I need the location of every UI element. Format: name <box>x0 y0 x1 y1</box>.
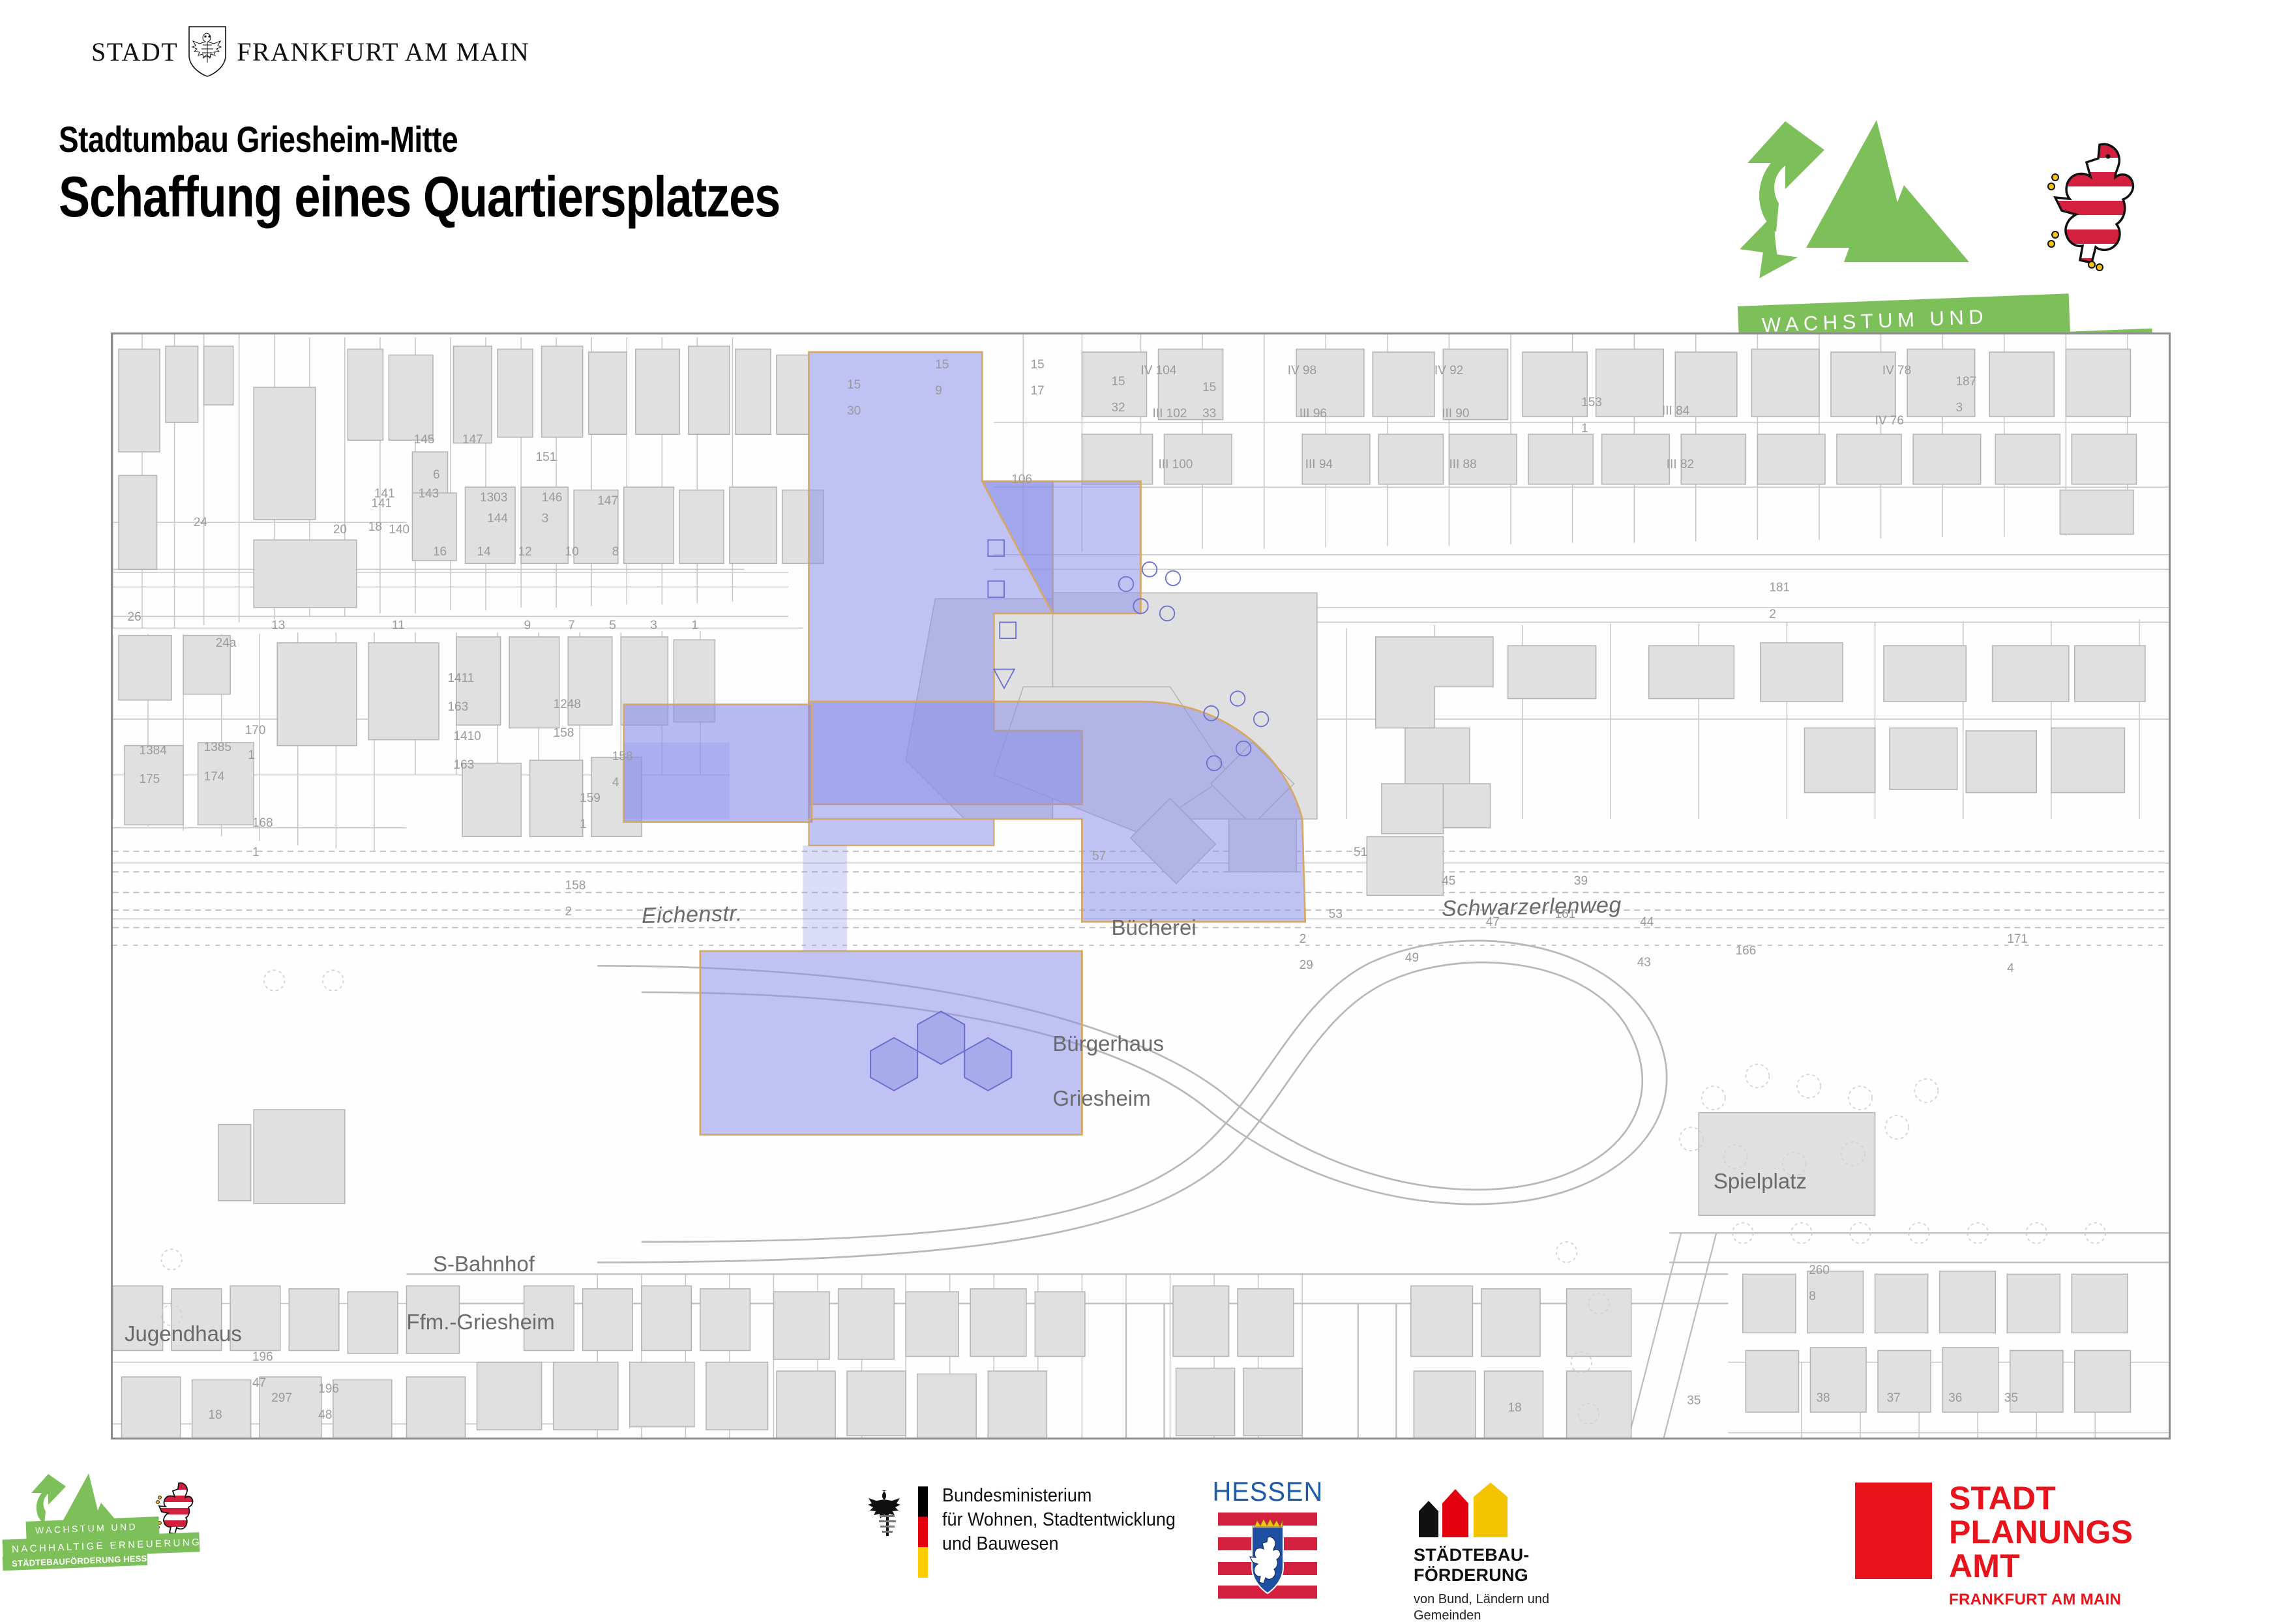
hessen-lion-icon <box>2021 137 2145 287</box>
parcel-label: 4 <box>612 776 619 790</box>
parcel-label: III 90 <box>1442 407 1469 421</box>
parcel-label: III 96 <box>1300 407 1327 421</box>
staedtebau-title-2: FÖRDERUNG <box>1414 1565 1530 1586</box>
parcel-label: 4 <box>2007 962 2014 976</box>
parcel-label: 48 <box>318 1408 332 1423</box>
parcel-label: 1384 <box>140 744 167 758</box>
spa-line-2: PLANUNGS <box>1949 1515 2133 1549</box>
place-label: Ffm.-Griesheim <box>406 1310 554 1335</box>
parcel-label: III 88 <box>1449 458 1476 472</box>
bmwsb-line-2: für Wohnen, Stadtentwicklung <box>942 1508 1176 1532</box>
place-label: Jugendhaus <box>125 1321 242 1346</box>
parcel-label: III 100 <box>1159 458 1193 472</box>
parcel-label: 146 <box>542 491 563 505</box>
hessen-wordmark: HESSEN <box>1212 1476 1323 1507</box>
parcel-label: 6 <box>433 468 440 482</box>
parcel-label: IV 92 <box>1434 364 1463 378</box>
parcel-label: 57 <box>1092 849 1106 864</box>
parcel-label: 16 <box>433 545 447 559</box>
parcel-label: 30 <box>847 404 861 419</box>
parcel-label: 181 <box>1769 581 1790 595</box>
tricolor-houses-icon <box>1418 1483 1522 1537</box>
spa-line-3: AMT <box>1949 1549 2133 1583</box>
parcel-label: 15 <box>847 378 861 392</box>
place-label: Bücherei <box>1111 915 1196 940</box>
title-group: Stadtumbau Griesheim-Mitte Schaffung ein… <box>59 121 938 227</box>
parcel-label: 168 <box>252 816 273 831</box>
staedtebau-sub-1: von Bund, Ländern und <box>1414 1591 1549 1608</box>
wachstum-erneuerung-logo-small: WACHSTUM UND NACHHALTIGE ERNEUERUNG STÄD… <box>0 1472 215 1583</box>
parcel-label: 20 <box>333 523 347 537</box>
city-logo-word-stadt: STADT <box>91 37 178 67</box>
parcel-label: 3 <box>650 619 657 633</box>
bmwsb-logo: Bundesministerium für Wohnen, Stadtentwi… <box>867 1484 1193 1578</box>
parcel-label: 24a <box>216 636 237 651</box>
parcel-label: 8 <box>1809 1290 1816 1304</box>
parcel-label: 39 <box>1574 874 1588 889</box>
parcel-label: 13 <box>271 619 285 633</box>
parcel-label: 153 <box>1581 396 1602 410</box>
parcel-label: 18 <box>1508 1401 1522 1415</box>
parcel-label: 1385 <box>204 741 231 755</box>
parcel-label: 9 <box>524 619 531 633</box>
parcel-label: 196 <box>252 1350 273 1365</box>
parcel-label: 163 <box>447 700 468 715</box>
parcel-label: 36 <box>1948 1391 1962 1406</box>
parcel-label: 43 <box>1637 956 1651 970</box>
parcel-label: 53 <box>1329 908 1343 922</box>
parcel-label: 2 <box>1769 608 1776 622</box>
parcel-label: 144 <box>487 512 508 526</box>
parcel-label: 38 <box>1816 1391 1830 1406</box>
parcel-label: 2 <box>1300 932 1307 947</box>
parcel-label: 11 <box>392 619 405 633</box>
parcel-label: 1 <box>580 818 587 832</box>
city-logo-word-frankfurt: FRANKFURT AM MAIN <box>237 37 529 67</box>
parcel-label: 47 <box>252 1376 266 1391</box>
staedtebau-sub-2: Gemeinden <box>1414 1608 1549 1624</box>
parcel-label: 159 <box>580 791 601 806</box>
parcel-label: 26 <box>128 610 141 625</box>
street-label: Eichenstr. <box>641 901 743 929</box>
parcel-label: 1411 <box>447 672 474 686</box>
green-recycle-arrow-tree-icon <box>1708 117 1982 319</box>
parcel-label: III 84 <box>1662 404 1689 419</box>
city-logo: STADT FRANKFURT AM MAIN <box>91 26 529 77</box>
parcel-label: 260 <box>1809 1263 1830 1278</box>
bmwsb-line-1: Bundesministerium <box>942 1484 1176 1508</box>
parcel-label: 1410 <box>453 730 481 744</box>
parcel-label: 47 <box>1486 915 1500 930</box>
hessen-logo: HESSEN <box>1210 1476 1326 1600</box>
place-label: Spielplatz <box>1714 1169 1807 1194</box>
spa-line-1: STADT <box>1949 1481 2133 1515</box>
parcel-label: 35 <box>1687 1394 1701 1408</box>
parcel-label: 171 <box>2007 932 2028 947</box>
parcel-label: 158 <box>565 879 586 893</box>
parcel-label: 141 <box>371 497 392 511</box>
parcel-label: 35 <box>2004 1391 2018 1406</box>
parcel-label: 3 <box>542 512 549 526</box>
parcel-label: 1248 <box>554 698 581 712</box>
parcel-label: 12 <box>518 545 532 559</box>
parcel-label: 147 <box>462 433 483 447</box>
parcel-label: 3 <box>1955 401 1963 415</box>
staedtebau-title-1: STÄDTEBAU- <box>1414 1545 1530 1565</box>
parcel-label: 145 <box>414 433 435 447</box>
page-subtitle: Stadtumbau Griesheim-Mitte <box>59 121 780 159</box>
parcel-label: 1 <box>691 619 698 633</box>
parcel-label: 297 <box>271 1391 292 1406</box>
parcel-label: 10 <box>565 545 579 559</box>
parcel-label: 147 <box>597 494 618 509</box>
page-title: Schaffung eines Quartiersplatzes <box>59 167 780 227</box>
parcel-label: IV 76 <box>1875 414 1904 428</box>
hessen-coat-of-arms-flag-icon <box>1218 1511 1317 1600</box>
parcel-label: 49 <box>1405 951 1419 966</box>
parcel-label: 170 <box>245 724 266 738</box>
parcel-label: 151 <box>536 450 557 465</box>
parcel-label: III 94 <box>1305 458 1333 472</box>
street-label: Schwarzerlenweg <box>1442 893 1622 922</box>
staedtebau-subtitle: von Bund, Ländern und Gemeinden <box>1414 1591 1549 1624</box>
german-flag-bar-icon <box>918 1486 928 1578</box>
header-block: STADT FRANKFURT AM MAIN <box>91 26 529 77</box>
parcel-label: 51 <box>1354 846 1367 860</box>
parcel-label: 9 <box>935 384 942 398</box>
parcel-label: 1303 <box>480 491 507 505</box>
place-label: S-Bahnhof <box>433 1252 535 1277</box>
parcel-label: III 102 <box>1153 407 1187 421</box>
bmwsb-text: Bundesministerium für Wohnen, Stadtentwi… <box>942 1484 1176 1556</box>
stadtplanungsamt-logo: STADT PLANUNGS AMT FRANKFURT AM MAIN <box>1855 1481 2133 1609</box>
staedtebaufoerderung-logo: STÄDTEBAU- FÖRDERUNG von Bund, Ländern u… <box>1414 1483 1549 1624</box>
cadastral-map[interactable]: Eichenstr.SchwarzerlenwegAm Gemeindegart… <box>111 332 2171 1439</box>
parcel-label: 45 <box>1442 874 1455 889</box>
parcel-label: IV 104 <box>1141 364 1177 378</box>
footer-logo-bar: Bundesministerium für Wohnen, Stadtentwi… <box>0 1472 2288 1602</box>
parcel-label: 29 <box>1300 958 1313 973</box>
parcel-label: III 82 <box>1667 458 1694 472</box>
parcel-label: 5 <box>609 619 616 633</box>
parcel-label: 158 <box>612 750 633 764</box>
parcel-label: 7 <box>568 619 575 633</box>
parcel-label: 15 <box>1111 375 1125 389</box>
parcel-label: 106 <box>1011 473 1032 487</box>
bundesadler-icon <box>867 1488 908 1539</box>
parcel-label: 33 <box>1202 407 1216 421</box>
parcel-label: 1 <box>252 846 260 860</box>
parcel-label: 1 <box>1581 422 1588 436</box>
parcel-label: 44 <box>1640 915 1654 930</box>
parcel-label: 158 <box>554 726 574 741</box>
parcel-label: 14 <box>477 545 491 559</box>
parcel-label: 161 <box>1555 908 1576 922</box>
staedtebau-title: STÄDTEBAU- FÖRDERUNG <box>1414 1545 1530 1586</box>
parcel-label: 174 <box>204 770 225 784</box>
parcel-label: 15 <box>1202 381 1216 395</box>
frankfurt-eagle-crest-icon <box>187 25 228 78</box>
parcel-label: 8 <box>612 545 619 559</box>
parcel-label: 24 <box>194 516 207 530</box>
parcel-label: 175 <box>140 773 160 787</box>
parcel-label: IV 98 <box>1288 364 1316 378</box>
parcel-label: 140 <box>389 523 409 537</box>
place-label: Bürgerhaus <box>1052 1031 1164 1056</box>
parcel-label: 143 <box>418 487 439 501</box>
parcel-label: 196 <box>318 1382 339 1396</box>
parcel-label: 18 <box>208 1408 222 1423</box>
bmwsb-line-3: und Bauwesen <box>942 1532 1176 1556</box>
place-label: Griesheim <box>1052 1086 1150 1111</box>
parcel-label: 32 <box>1111 401 1125 415</box>
parcel-label: 37 <box>1887 1391 1901 1406</box>
parcel-label: 15 <box>935 358 949 372</box>
spa-subline: FRANKFURT AM MAIN <box>1949 1591 2133 1609</box>
parcel-label: 17 <box>1031 384 1045 398</box>
stadtplanungsamt-f-mark-icon <box>1855 1483 1932 1579</box>
parcel-label: 2 <box>565 905 572 919</box>
parcel-label: 163 <box>453 758 474 773</box>
parcel-label: 15 <box>1031 358 1045 372</box>
parcel-label: 166 <box>1736 944 1757 958</box>
parcel-label: 1 <box>248 748 255 763</box>
parcel-label: IV 78 <box>1882 364 1911 378</box>
parcel-label: 18 <box>368 520 382 535</box>
stadtplanungsamt-text: STADT PLANUNGS AMT FRANKFURT AM MAIN <box>1949 1481 2133 1609</box>
parcel-label: 187 <box>1955 375 1976 389</box>
